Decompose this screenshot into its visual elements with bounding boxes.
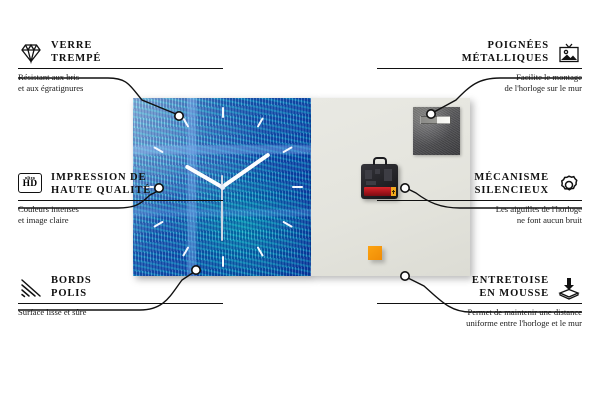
diamond-icon <box>18 41 44 65</box>
callout-subtitle: Couleurs intenses et image claire <box>18 201 223 225</box>
callout-title: ENTRETOISE EN MOUSSE <box>472 275 549 300</box>
framed-picture-icon <box>556 41 582 65</box>
gear-icon <box>556 173 582 197</box>
callout-impression-haute-qualite[interactable]: ultra HD IMPRESSION DE HAUTE QUALITÉ Cou… <box>18 172 223 226</box>
callout-subtitle: Résistant aux bris et aux égratignures <box>18 69 223 93</box>
callout-title: VERRE TREMPÉ <box>51 40 101 65</box>
press-down-foam-icon <box>556 276 582 300</box>
ultra-hd-badge-icon: ultra HD <box>18 173 44 197</box>
connector-dot-poignees <box>427 110 435 118</box>
callout-header: MÉCANISME SILENCIEUX <box>377 172 582 200</box>
callout-subtitle: Surface lisse et sûre <box>18 304 223 318</box>
callout-header: POIGNÉES MÉTALLIQUES <box>377 40 582 68</box>
callout-header: ultra HD IMPRESSION DE HAUTE QUALITÉ <box>18 172 223 200</box>
callout-subtitle: Les aiguilles de l'horloge ne font aucun… <box>377 201 582 225</box>
connector-dot-verre-trempe <box>175 112 183 120</box>
callout-title: POIGNÉES MÉTALLIQUES <box>462 40 549 65</box>
callout-title: BORDS POLIS <box>51 275 92 300</box>
connector-dot-bords-polis <box>192 266 200 274</box>
callout-mecanisme-silencieux[interactable]: MÉCANISME SILENCIEUX Les aiguilles de l'… <box>377 172 582 226</box>
callout-entretoise-en-mousse[interactable]: ENTRETOISE EN MOUSSE Permet de maintenir… <box>377 275 582 329</box>
callout-subtitle: Facilite le montage de l'horloge sur le … <box>377 69 582 93</box>
infographic-canvas: VERRE TREMPÉ Résistant aux bris et aux é… <box>0 0 600 400</box>
callout-title: MÉCANISME SILENCIEUX <box>474 172 549 197</box>
callout-title: IMPRESSION DE HAUTE QUALITÉ <box>51 172 151 197</box>
callout-header: BORDS POLIS <box>18 275 223 303</box>
callout-poignees-metalliques[interactable]: POIGNÉES MÉTALLIQUES Facilite le montage… <box>377 40 582 94</box>
callout-subtitle: Permet de maintenir une distance uniform… <box>377 304 582 328</box>
callout-bords-polis[interactable]: BORDS POLIS Surface lisse et sûre <box>18 275 223 318</box>
callout-verre-trempe[interactable]: VERRE TREMPÉ Résistant aux bris et aux é… <box>18 40 223 94</box>
callout-header: ENTRETOISE EN MOUSSE <box>377 275 582 303</box>
diagonal-lines-icon <box>18 276 44 300</box>
callout-header: VERRE TREMPÉ <box>18 40 223 68</box>
